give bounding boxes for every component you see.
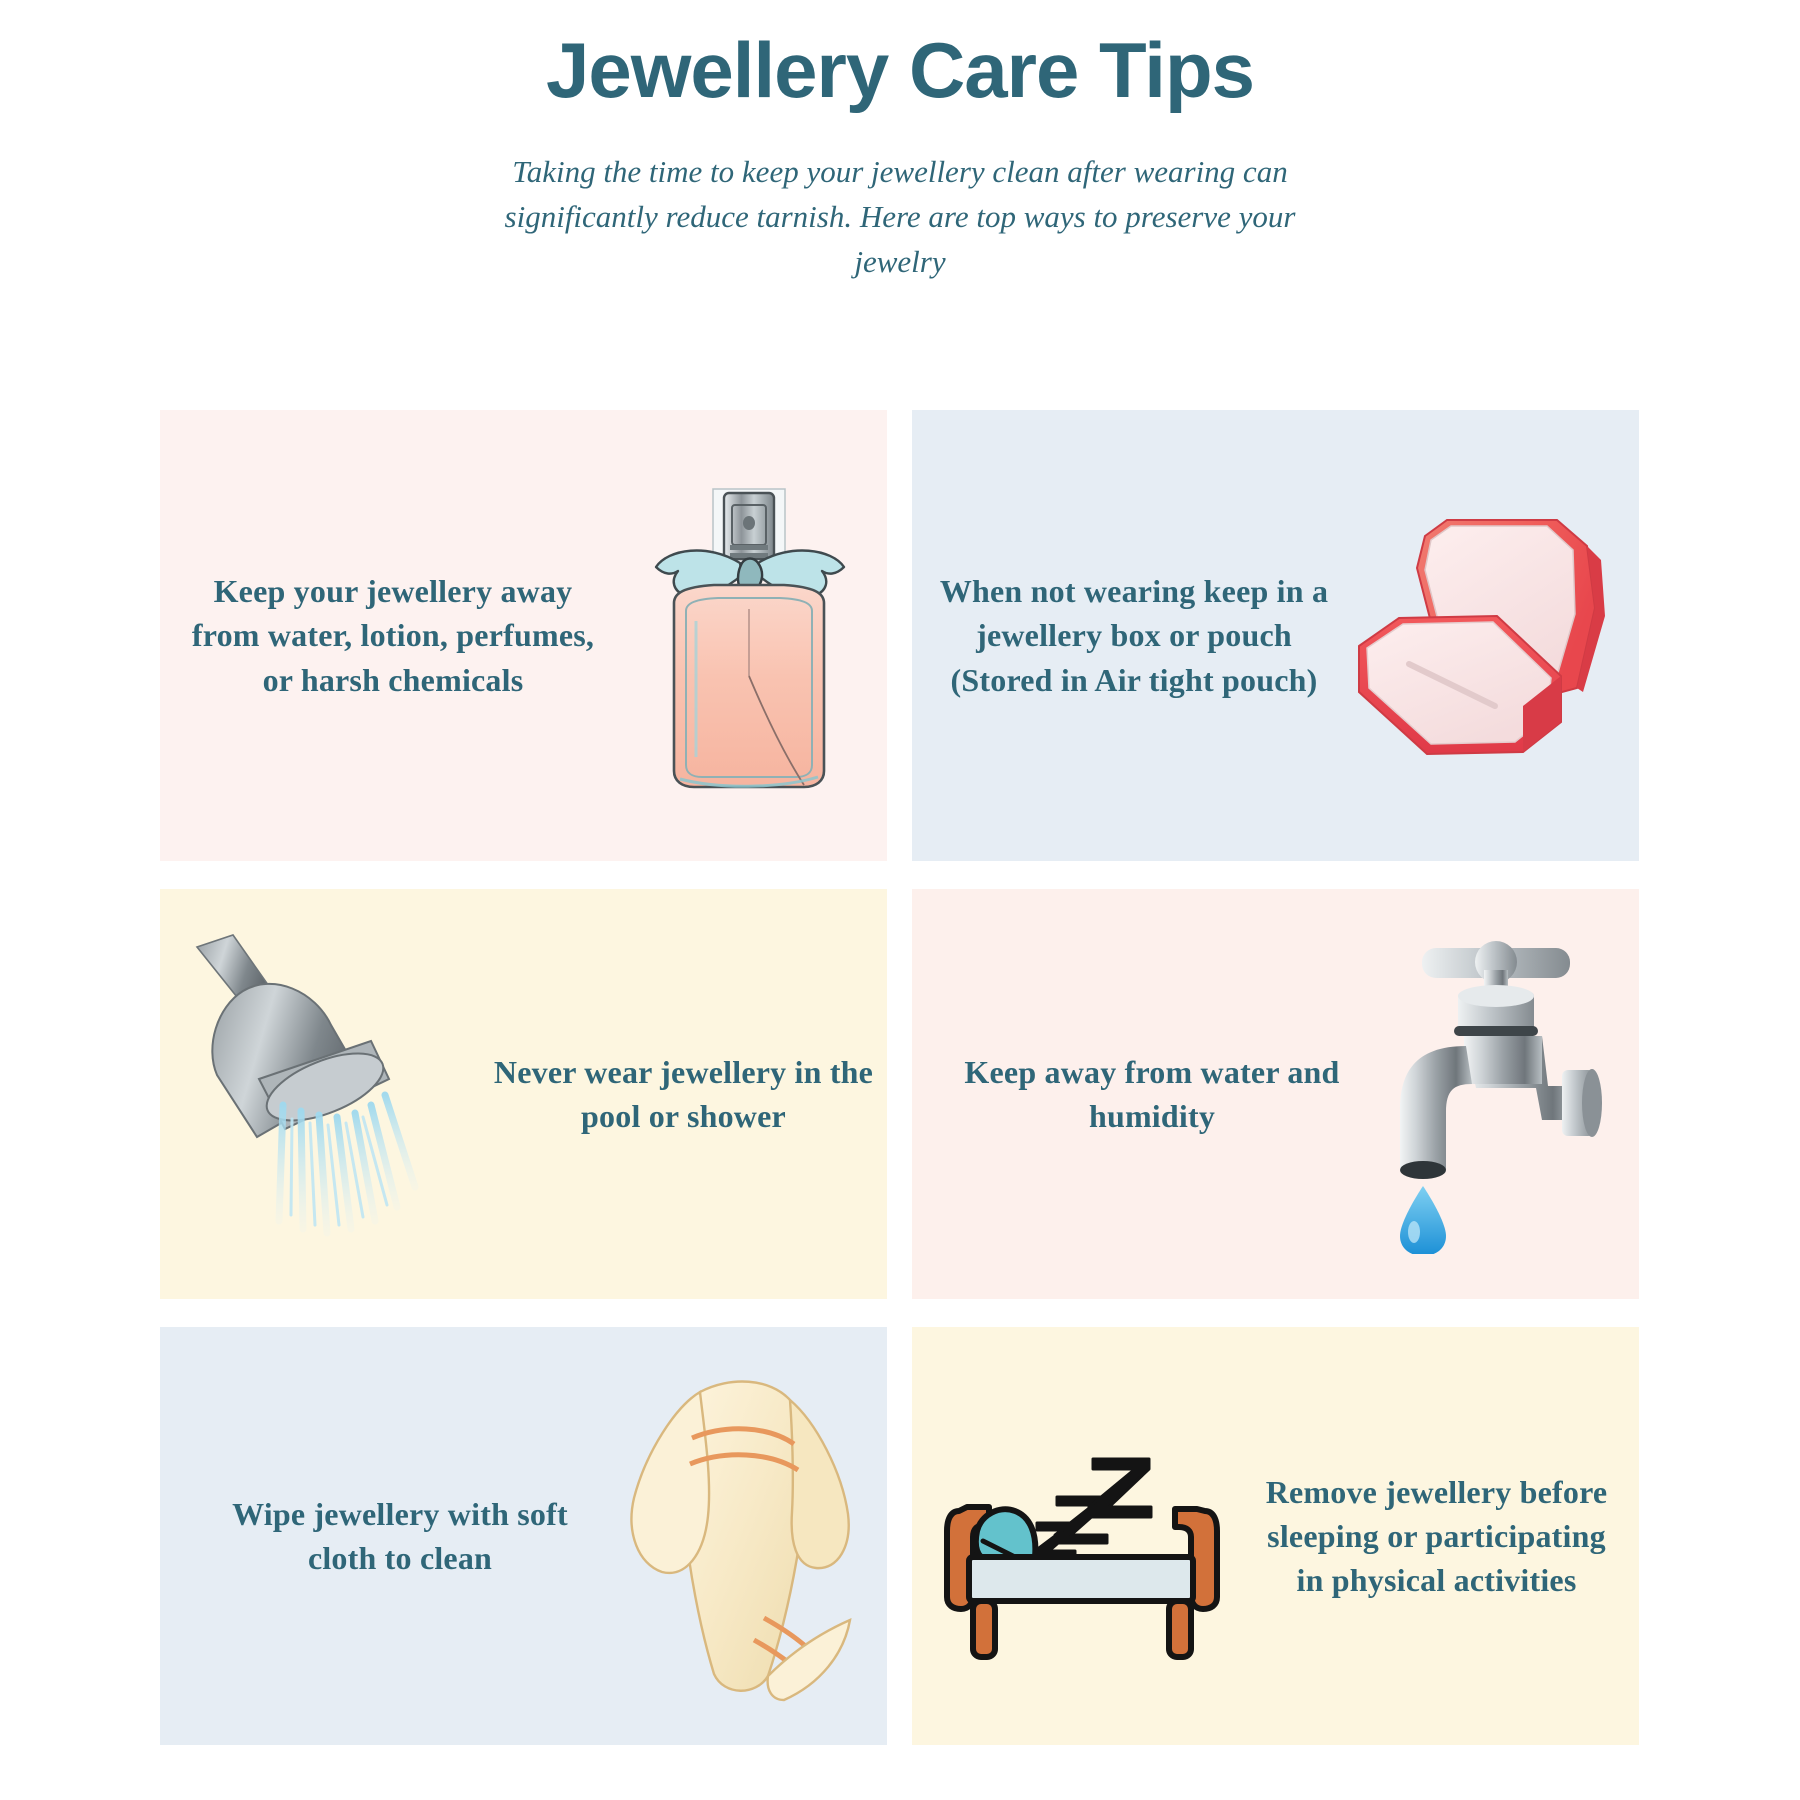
perfume-bottle-icon: [618, 471, 878, 801]
tip-card-5-text: Wipe jewellery with soft cloth to clean: [200, 1492, 600, 1580]
tip-card-2-text: When not wearing keep in a jewellery box…: [934, 569, 1334, 701]
tip-card-5-art: [600, 1366, 887, 1706]
tip-card-6-art: [912, 1411, 1262, 1661]
tip-card-4-text: Keep away from water and humidity: [952, 1050, 1352, 1138]
tip-card-1-text: Keep your jewellery away from water, lot…: [178, 569, 608, 701]
tip-card-2[interactable]: When not wearing keep in a jewellery box…: [912, 410, 1639, 861]
infographic-page: Jewellery Care Tips Taking the time to k…: [0, 0, 1800, 1800]
tip-card-3[interactable]: Never wear jewellery in the pool or show…: [160, 889, 887, 1299]
faucet-icon: [1366, 934, 1626, 1254]
page-subtitle: Taking the time to keep your jewellery c…: [500, 150, 1300, 285]
tip-card-3-art: [160, 929, 490, 1259]
tip-card-1-art: [608, 471, 887, 801]
tip-card-3-text: Never wear jewellery in the pool or show…: [490, 1050, 887, 1138]
jewellery-box-icon: [1347, 506, 1627, 766]
tip-card-6[interactable]: Remove jewellery before sleeping or part…: [912, 1327, 1639, 1745]
tip-card-1[interactable]: Keep your jewellery away from water, lot…: [160, 410, 887, 861]
tip-card-5[interactable]: Wipe jewellery with soft cloth to clean: [160, 1327, 887, 1745]
header: Jewellery Care Tips Taking the time to k…: [0, 0, 1800, 285]
soft-cloth-icon: [604, 1366, 884, 1706]
tip-card-4[interactable]: Keep away from water and humidity: [912, 889, 1639, 1299]
tips-grid: Keep your jewellery away from water, lot…: [160, 410, 1639, 1745]
bed-sleeping-icon: [937, 1411, 1237, 1661]
page-title: Jewellery Care Tips: [0, 26, 1800, 116]
tip-card-2-art: [1334, 506, 1639, 766]
shower-head-icon: [175, 929, 475, 1259]
tip-card-6-text: Remove jewellery before sleeping or part…: [1262, 1470, 1639, 1602]
tip-card-4-art: [1352, 934, 1639, 1254]
